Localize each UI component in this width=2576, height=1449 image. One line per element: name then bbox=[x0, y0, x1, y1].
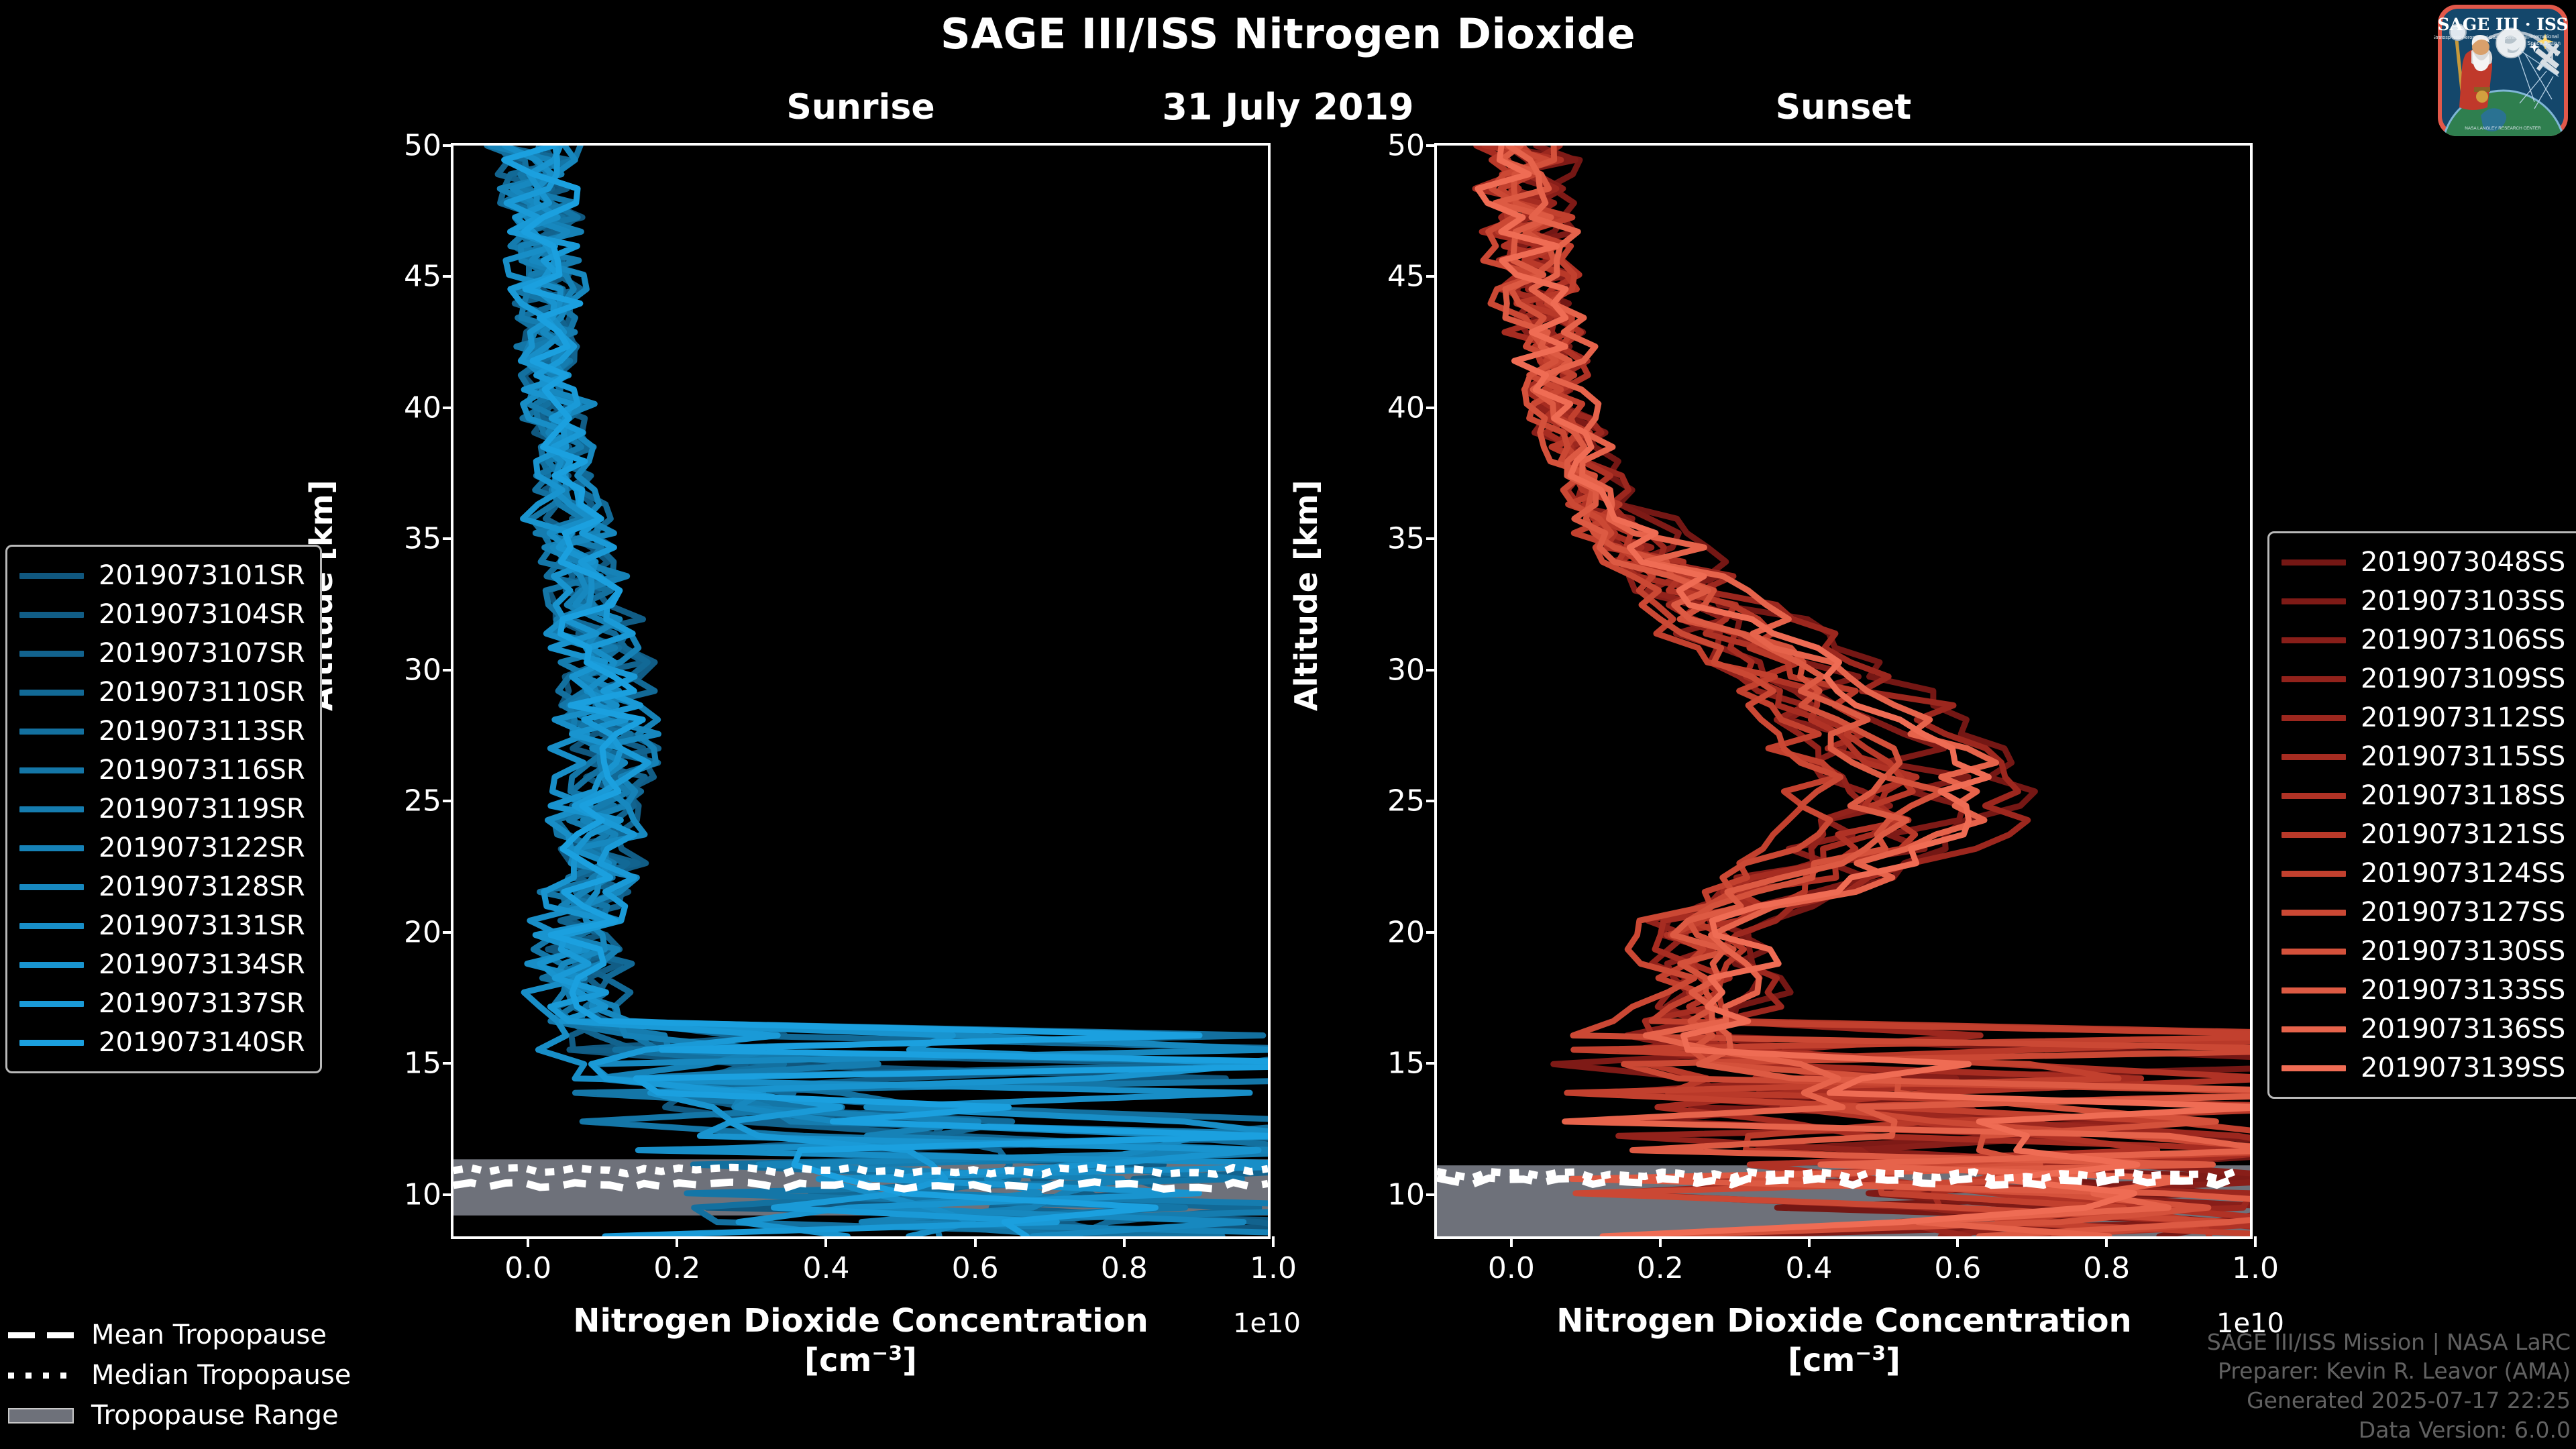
y-tick-mark bbox=[443, 931, 453, 934]
y-tick-label: 45 bbox=[404, 260, 441, 294]
y-tick-label: 40 bbox=[404, 390, 441, 425]
dashed-line-icon bbox=[7, 1328, 76, 1342]
credits-line: Generated 2025-07-17 22:25 bbox=[2207, 1386, 2571, 1415]
legend-label-tropopause-range: Tropopause Range bbox=[91, 1400, 339, 1431]
line-swatch-icon bbox=[2282, 793, 2346, 799]
line-swatch-icon bbox=[19, 651, 84, 657]
line-swatch-icon bbox=[2282, 715, 2346, 721]
line-swatch-icon bbox=[19, 1040, 84, 1046]
sunset-event-legend-label: 2019073109SS bbox=[2361, 663, 2565, 694]
line-swatch-icon bbox=[2282, 754, 2346, 760]
x-tick-label: 0.4 bbox=[1786, 1251, 1833, 1285]
x-tick-label: 0.2 bbox=[653, 1251, 700, 1285]
sunset-event-legend-label: 2019073130SS bbox=[2361, 936, 2565, 967]
sunset-event-legend-label: 2019073121SS bbox=[2361, 819, 2565, 850]
sunrise-event-legend-label: 2019073119SR bbox=[99, 794, 305, 824]
sunset-event-legend-label: 2019073127SS bbox=[2361, 897, 2565, 928]
sunrise-event-legend-item[interactable]: 2019073116SR bbox=[19, 751, 308, 790]
y-tick-mark bbox=[1426, 1193, 1437, 1196]
tropopause-legend[interactable]: Mean Tropopause Median Tropopause Tropop… bbox=[7, 1315, 382, 1436]
y-tick-label: 15 bbox=[1387, 1046, 1425, 1081]
sunrise-event-legend-label: 2019073116SR bbox=[99, 755, 305, 786]
sunrise-event-legend-item[interactable]: 2019073101SR bbox=[19, 556, 308, 595]
sunrise-event-legend-item[interactable]: 2019073134SR bbox=[19, 945, 308, 984]
sunset-event-legend-label: 2019073112SS bbox=[2361, 702, 2565, 733]
sunset-event-legend-item[interactable]: 2019073133SS bbox=[2282, 971, 2576, 1010]
x-tick-label: 0.0 bbox=[504, 1251, 551, 1285]
sunset-event-legend-item[interactable]: 2019073106SS bbox=[2282, 621, 2576, 659]
y-tick-mark bbox=[1426, 800, 1437, 802]
y-tick-mark bbox=[443, 144, 453, 147]
y-tick-label: 10 bbox=[404, 1177, 441, 1212]
x-tick-mark bbox=[1956, 1236, 1959, 1247]
sunset-event-legend-item[interactable]: 2019073121SS bbox=[2282, 815, 2576, 854]
sunrise-event-legend-label: 2019073131SR bbox=[99, 910, 305, 941]
sunrise-x-axis-label: Nitrogen Dioxide Concentration [cm−3] bbox=[402, 1301, 1319, 1380]
sunrise-event-legend-label: 2019073122SR bbox=[99, 833, 305, 863]
sunset-event-legend-label: 2019073048SS bbox=[2361, 547, 2565, 578]
line-swatch-icon bbox=[2282, 676, 2346, 682]
line-swatch-icon bbox=[19, 729, 84, 735]
x-tick-mark bbox=[1659, 1236, 1662, 1247]
y-tick-label: 45 bbox=[1387, 260, 1425, 294]
sunset-event-legend-item[interactable]: 2019073127SS bbox=[2282, 893, 2576, 932]
x-tick-mark bbox=[527, 1236, 529, 1247]
sunrise-event-legend-item[interactable]: 2019073107SR bbox=[19, 634, 308, 673]
line-swatch-icon bbox=[2282, 637, 2346, 643]
sunset-profile-lines bbox=[1437, 146, 2250, 1236]
line-swatch-icon bbox=[19, 962, 84, 968]
y-tick-mark bbox=[443, 275, 453, 278]
y-tick-label: 30 bbox=[404, 653, 441, 687]
sunrise-event-legend-item[interactable]: 2019073110SR bbox=[19, 673, 308, 712]
line-swatch-icon bbox=[19, 1001, 84, 1007]
line-swatch-icon bbox=[2282, 832, 2346, 838]
sunset-plot-axes: 1015202530354045500.00.20.40.60.81.0 bbox=[1434, 143, 2253, 1239]
y-tick-label: 15 bbox=[404, 1046, 441, 1081]
sunset-event-legend-item[interactable]: 2019073124SS bbox=[2282, 854, 2576, 893]
y-tick-mark bbox=[1426, 669, 1437, 672]
x-tick-mark bbox=[1510, 1236, 1513, 1247]
legend-label-mean-tropopause: Mean Tropopause bbox=[91, 1320, 327, 1350]
sunset-panel-title: Sunset bbox=[1434, 87, 2253, 127]
sunrise-event-legend-item[interactable]: 2019073113SR bbox=[19, 712, 308, 751]
sunset-plot-area bbox=[1437, 146, 2250, 1236]
x-tick-label: 1.0 bbox=[2232, 1251, 2279, 1285]
credits-line: Preparer: Kevin R. Leavor (AMA) bbox=[2207, 1356, 2571, 1386]
legend-item-mean-tropopause[interactable]: Mean Tropopause bbox=[7, 1315, 382, 1355]
sunset-event-legend-label: 2019073106SS bbox=[2361, 625, 2565, 655]
sunrise-event-legend-item[interactable]: 2019073122SR bbox=[19, 828, 308, 867]
x-tick-label: 1.0 bbox=[1250, 1251, 1297, 1285]
line-swatch-icon bbox=[2282, 559, 2346, 566]
y-tick-label: 30 bbox=[1387, 653, 1425, 687]
y-tick-label: 50 bbox=[404, 129, 441, 163]
y-tick-mark bbox=[1426, 537, 1437, 540]
credits-line: SAGE III/ISS Mission | NASA LaRC bbox=[2207, 1328, 2571, 1357]
sunrise-x-axis-label-line1: Nitrogen Dioxide Concentration bbox=[402, 1301, 1319, 1341]
sunrise-event-legend-label: 2019073134SR bbox=[99, 949, 305, 980]
line-swatch-icon bbox=[2282, 987, 2346, 994]
x-tick-mark bbox=[1123, 1236, 1126, 1247]
line-swatch-icon bbox=[2282, 871, 2346, 877]
x-tick-label: 0.6 bbox=[952, 1251, 999, 1285]
sunrise-event-legend-label: 2019073107SR bbox=[99, 638, 305, 669]
credits-line: Data Version: 6.0.0 bbox=[2207, 1415, 2571, 1445]
sunrise-event-legend-label: 2019073140SR bbox=[99, 1027, 305, 1058]
y-tick-mark bbox=[443, 1062, 453, 1065]
y-tick-mark bbox=[443, 537, 453, 540]
patch-title: SAGE III · ISS bbox=[2437, 15, 2568, 34]
line-swatch-icon bbox=[19, 767, 84, 773]
sunset-x-axis-label-line1: Nitrogen Dioxide Concentration bbox=[1386, 1301, 2302, 1341]
sunrise-profile-lines bbox=[453, 146, 1268, 1236]
sunset-y-axis-label: Altitude [km] bbox=[1288, 480, 1324, 711]
legend-item-median-tropopause[interactable]: Median Tropopause bbox=[7, 1355, 382, 1395]
sunrise-event-legend-item[interactable]: 2019073104SR bbox=[19, 595, 308, 634]
line-swatch-icon bbox=[19, 884, 84, 890]
mission-patch-svg: SAGE III · ISS Stratospheric Aerosol and… bbox=[2434, 1, 2572, 140]
y-tick-mark bbox=[443, 800, 453, 802]
y-tick-mark bbox=[1426, 275, 1437, 278]
y-tick-label: 10 bbox=[1387, 1177, 1425, 1212]
line-swatch-icon bbox=[19, 573, 84, 579]
line-swatch-icon bbox=[19, 690, 84, 696]
sunrise-event-legend-label: 2019073104SR bbox=[99, 599, 305, 630]
sunrise-legend[interactable]: 2019073101SR2019073104SR2019073107SR2019… bbox=[5, 545, 322, 1073]
sunrise-event-legend-label: 2019073128SR bbox=[99, 871, 305, 902]
x-tick-label: 0.8 bbox=[2083, 1251, 2130, 1285]
sunset-event-legend-item[interactable]: 2019073048SS bbox=[2282, 543, 2576, 582]
sunset-event-legend-label: 2019073118SS bbox=[2361, 780, 2565, 811]
line-swatch-icon bbox=[19, 806, 84, 812]
y-tick-mark bbox=[1426, 144, 1437, 147]
sunset-event-legend-item[interactable]: 2019073115SS bbox=[2282, 737, 2576, 776]
y-tick-label: 35 bbox=[1387, 522, 1425, 556]
page-title: SAGE III/ISS Nitrogen Dioxide bbox=[0, 9, 2576, 58]
sunrise-event-legend-label: 2019073101SR bbox=[99, 560, 305, 591]
sunrise-event-legend-label: 2019073110SR bbox=[99, 677, 305, 708]
sunrise-event-legend-item[interactable]: 2019073131SR bbox=[19, 906, 308, 945]
patch-subtitle-right-2: Space Station bbox=[2527, 40, 2561, 46]
sunrise-event-legend-item[interactable]: 2019073119SR bbox=[19, 790, 308, 828]
sunset-event-legend-item[interactable]: 2019073103SS bbox=[2282, 582, 2576, 621]
x-tick-mark bbox=[1272, 1236, 1275, 1247]
sunrise-x-axis-label-line2: [cm−3] bbox=[402, 1341, 1319, 1381]
line-swatch-icon bbox=[19, 845, 84, 851]
sunset-event-legend-label: 2019073136SS bbox=[2361, 1014, 2565, 1044]
patch-footer: NASA LANGLEY RESEARCH CENTER bbox=[2465, 126, 2541, 131]
sunrise-x-offset-text: 1e10 bbox=[1233, 1308, 1301, 1339]
sunrise-event-legend-item[interactable]: 2019073137SR bbox=[19, 984, 308, 1023]
x-tick-label: 0.6 bbox=[1934, 1251, 1981, 1285]
y-tick-mark bbox=[443, 407, 453, 409]
y-tick-mark bbox=[1426, 931, 1437, 934]
x-tick-mark bbox=[824, 1236, 827, 1247]
y-tick-label: 40 bbox=[1387, 390, 1425, 425]
sunset-event-legend-label: 2019073103SS bbox=[2361, 586, 2565, 616]
x-tick-label: 0.8 bbox=[1101, 1251, 1148, 1285]
legend-label-median-tropopause: Median Tropopause bbox=[91, 1360, 351, 1391]
x-tick-mark bbox=[1808, 1236, 1811, 1247]
x-tick-label: 0.2 bbox=[1637, 1251, 1684, 1285]
sunset-event-legend-label: 2019073133SS bbox=[2361, 975, 2565, 1006]
y-tick-mark bbox=[443, 1193, 453, 1196]
sunset-x-axis-label-line2: [cm−3] bbox=[1386, 1341, 2302, 1381]
y-tick-mark bbox=[1426, 407, 1437, 409]
y-tick-mark bbox=[443, 669, 453, 672]
line-swatch-icon bbox=[2282, 1026, 2346, 1032]
x-tick-mark bbox=[974, 1236, 977, 1247]
y-tick-label: 20 bbox=[404, 915, 441, 949]
y-tick-label: 50 bbox=[1387, 129, 1425, 163]
sunrise-event-legend-label: 2019073137SR bbox=[99, 988, 305, 1019]
line-swatch-icon bbox=[2282, 949, 2346, 955]
sunrise-plot-area bbox=[453, 146, 1268, 1236]
line-swatch-icon bbox=[2282, 910, 2346, 916]
line-swatch-icon bbox=[19, 923, 84, 929]
sunset-event-legend-label: 2019073115SS bbox=[2361, 741, 2565, 772]
y-tick-label: 25 bbox=[1387, 784, 1425, 818]
sunset-x-axis-label: Nitrogen Dioxide Concentration [cm−3] bbox=[1386, 1301, 2302, 1380]
sunrise-plot-axes: 1015202530354045500.00.20.40.60.81.0 bbox=[451, 143, 1271, 1239]
patch-subtitle-left: Stratospheric Aerosol and Gas Experiment… bbox=[2434, 34, 2529, 40]
patch-subtitle-right-1: International bbox=[2529, 34, 2559, 40]
sunrise-panel-title: Sunrise bbox=[451, 87, 1271, 127]
x-tick-mark bbox=[676, 1236, 678, 1247]
credits-block: SAGE III/ISS Mission | NASA LaRCPreparer… bbox=[2207, 1328, 2571, 1446]
line-swatch-icon bbox=[2282, 598, 2346, 604]
legend-item-tropopause-range[interactable]: Tropopause Range bbox=[7, 1395, 382, 1436]
x-tick-label: 0.0 bbox=[1488, 1251, 1535, 1285]
sunset-legend[interactable]: 2019073048SS2019073103SS2019073106SS2019… bbox=[2267, 531, 2576, 1099]
y-tick-label: 35 bbox=[404, 522, 441, 556]
sunrise-event-legend-label: 2019073113SR bbox=[99, 716, 305, 747]
x-tick-mark bbox=[2254, 1236, 2257, 1247]
x-tick-mark bbox=[2105, 1236, 2108, 1247]
x-tick-label: 0.4 bbox=[802, 1251, 849, 1285]
y-tick-label: 25 bbox=[404, 784, 441, 818]
line-swatch-icon bbox=[19, 612, 84, 618]
sunset-event-legend-item[interactable]: 2019073136SS bbox=[2282, 1010, 2576, 1049]
y-tick-label: 20 bbox=[1387, 915, 1425, 949]
y-tick-mark bbox=[1426, 1062, 1437, 1065]
sunset-event-legend-label: 2019073139SS bbox=[2361, 1053, 2565, 1083]
sunrise-event-legend-item[interactable]: 2019073140SR bbox=[19, 1023, 308, 1062]
sunset-event-legend-item[interactable]: 2019073130SS bbox=[2282, 932, 2576, 971]
sunset-event-legend-item[interactable]: 2019073118SS bbox=[2282, 776, 2576, 815]
sunset-event-legend-label: 2019073124SS bbox=[2361, 858, 2565, 889]
sunset-event-legend-item[interactable]: 2019073109SS bbox=[2282, 659, 2576, 698]
sunrise-event-legend-item[interactable]: 2019073128SR bbox=[19, 867, 308, 906]
dotted-line-icon bbox=[7, 1368, 76, 1383]
filled-band-icon bbox=[7, 1408, 76, 1423]
sunset-event-legend-item[interactable]: 2019073139SS bbox=[2282, 1049, 2576, 1087]
line-swatch-icon bbox=[2282, 1065, 2346, 1071]
sunset-event-legend-item[interactable]: 2019073112SS bbox=[2282, 698, 2576, 737]
sage-iii-iss-mission-patch-logo: SAGE III · ISS Stratospheric Aerosol and… bbox=[2434, 1, 2572, 140]
